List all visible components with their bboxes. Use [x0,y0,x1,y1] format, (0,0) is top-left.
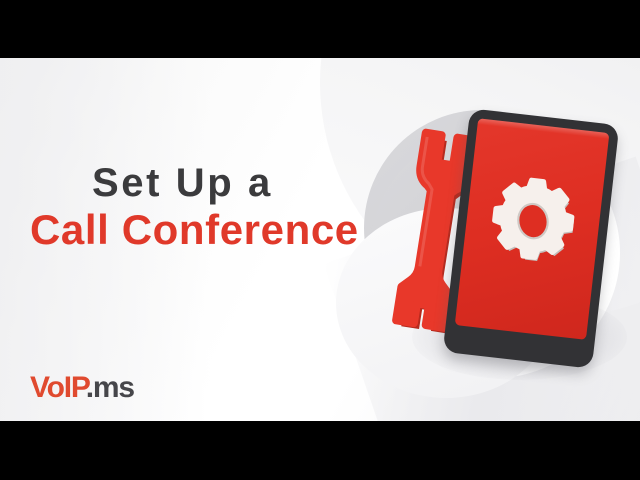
brand-logo: VoIP.ms [30,373,134,403]
gear-icon [485,173,580,268]
slide-content: Set Up a Call Conference VoIP.ms [0,58,640,421]
video-thumbnail: Set Up a Call Conference VoIP.ms [0,0,640,480]
title-line-primary: Set Up a [92,164,359,203]
letterbox-top [0,0,640,58]
smartphone-icon [443,108,620,368]
title-line-secondary: Call Conference [30,209,359,250]
phone-screen [455,118,610,340]
hero-illustration [352,58,640,421]
brand-logo-primary: VoIP [30,371,86,404]
letterbox-bottom [0,421,640,480]
page-title: Set Up a Call Conference [30,164,359,250]
brand-logo-secondary: .ms [86,371,134,404]
